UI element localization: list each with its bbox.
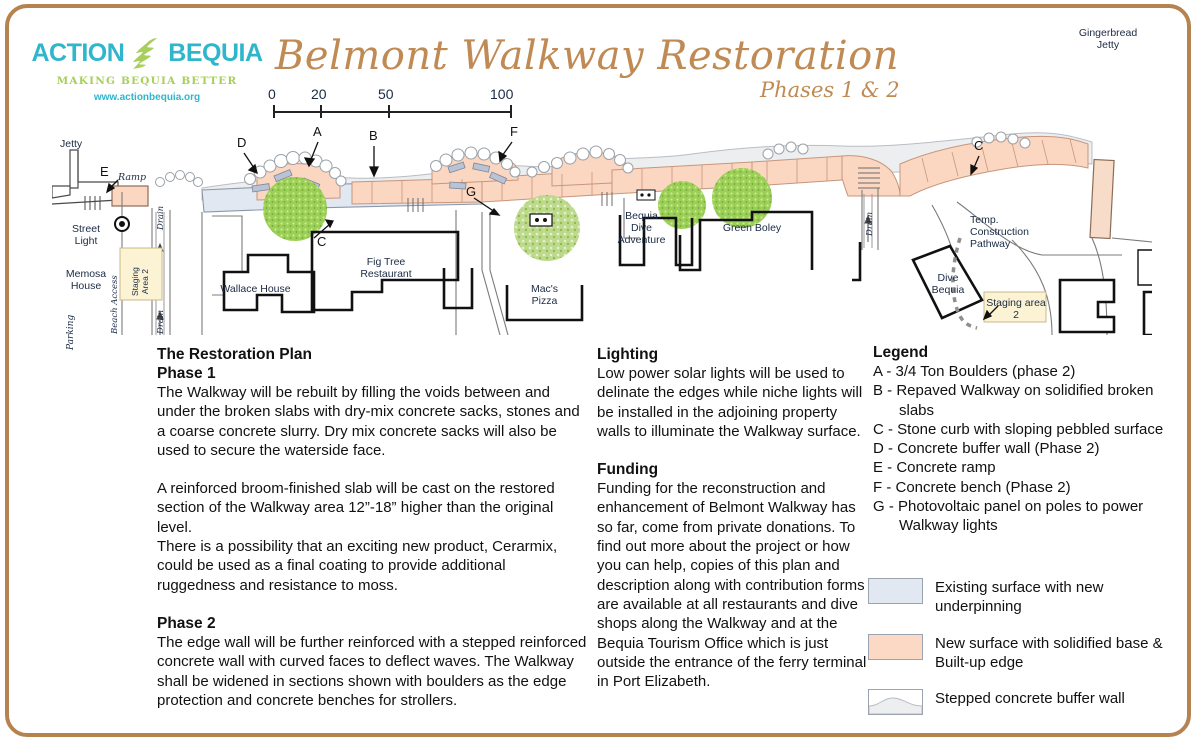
jetty-left-base: [52, 186, 70, 198]
scale-tick-0: [273, 105, 275, 118]
legend-item-d: D - Concrete buffer wall (Phase 2): [873, 439, 1173, 458]
swatch-buffer-wall: [868, 689, 923, 715]
site-plan-map: Jetty StreetLight MemosaHouse Ramp Stagi…: [52, 120, 1152, 335]
photovoltaic-panel-symbol: [530, 214, 552, 226]
spacer-2: [157, 595, 587, 614]
bequia-island-icon: [126, 36, 166, 70]
map-label-drain-3: Drain: [865, 212, 875, 236]
spacer-3: [597, 441, 869, 460]
jetty-left-structure: [70, 150, 78, 188]
map-label-dive-bequia: DiveBequia: [914, 272, 982, 296]
legend-swatch-row-new: New surface with solidified base & Built…: [868, 634, 1178, 673]
map-key-letter-D: D: [237, 135, 246, 150]
map-key-letter-E: E: [100, 164, 109, 179]
concrete-ramp-E: [112, 186, 148, 206]
heading-phase-1: Phase 1: [157, 364, 587, 383]
photovoltaic-panel-symbol-2: [637, 190, 655, 200]
map-key-letter-B: B: [369, 128, 378, 143]
map-label-gingerbread-jetty: GingerbreadJetty: [1066, 27, 1150, 51]
page-title: Belmont Walkway Restoration: [275, 33, 875, 79]
map-label-staging-area-left: StagingArea 2: [131, 267, 150, 296]
logo-word-bequia: BEQUIA: [168, 39, 262, 68]
map-key-letter-C: C: [317, 234, 326, 249]
legend-item-a: A - 3/4 Ton Boulders (phase 2): [873, 362, 1173, 381]
building-green-boley-2: [852, 242, 860, 280]
map-label-drain-2: Drain: [156, 310, 166, 334]
logo-website-url[interactable]: www.actionbequia.org: [47, 92, 247, 103]
legend-item-g: G - Photovoltaic panel on poles to power…: [873, 497, 1173, 536]
paragraph-phase1-b: A reinforced broom-finished slab will be…: [157, 479, 587, 537]
tree-canopy-2: [514, 195, 580, 261]
map-key-letter-F: F: [510, 124, 518, 139]
logo-tagline: MAKING BEQUIA BETTER: [47, 75, 247, 87]
legend-swatches: Existing surface with new underpinning N…: [868, 578, 1178, 732]
scale-tick-label-0: 0: [268, 86, 276, 102]
paragraph-phase1-c: There is a possibility that an exciting …: [157, 537, 587, 595]
map-label-ramp: Ramp: [118, 172, 146, 184]
lighting-funding-column: Lighting Low power solar lights will be …: [597, 345, 869, 691]
page-subtitle: Phases 1 & 2: [760, 78, 900, 102]
legend-item-e: E - Concrete ramp: [873, 458, 1173, 477]
map-label-temp-construction-pathway: Temp.ConstructionPathway: [970, 214, 1048, 250]
steps-left: [85, 196, 100, 210]
swatch-existing-surface: [868, 578, 923, 604]
poster-page: ACTION BEQUIA MAKING BEQUIA BETTER www.a…: [0, 0, 1197, 742]
map-label-beach-access: Beach Access: [110, 275, 120, 334]
heading-legend: Legend: [873, 343, 1173, 362]
scale-tick-20: [320, 105, 322, 118]
legend-swatch-row-buffer: Stepped concrete buffer wall: [868, 689, 1178, 715]
legend-item-f: F - Concrete bench (Phase 2): [873, 478, 1173, 497]
legend-item-b: B - Repaved Walkway on solidified broken…: [873, 381, 1173, 420]
map-key-letter-A: A: [313, 124, 322, 139]
scale-bar: 0 20 50 100: [268, 86, 528, 120]
paragraph-lighting: Low power solar lights will be used to d…: [597, 364, 869, 441]
scale-tick-100: [510, 105, 512, 118]
swatch-label-buffer: Stepped concrete buffer wall: [935, 689, 1125, 708]
heading-funding: Funding: [597, 460, 869, 479]
map-key-letter-G: G: [466, 184, 476, 199]
map-label-staging-area-right: Staging area2: [986, 297, 1046, 321]
map-label-memosa-house: MemosaHouse: [54, 268, 118, 292]
buffer-wall-swatch-icon: [869, 690, 922, 714]
heading-lighting: Lighting: [597, 345, 869, 364]
scale-tick-label-50: 50: [378, 86, 394, 102]
restoration-plan-column: The Restoration Plan Phase 1 The Walkway…: [157, 345, 587, 710]
map-label-jetty-left: Jetty: [60, 138, 82, 150]
building-far-right-2: [1144, 292, 1152, 335]
legend-column: Legend A - 3/4 Ton Boulders (phase 2) B …: [873, 343, 1173, 536]
legend-item-c: C - Stone curb with sloping pebbled surf…: [873, 420, 1173, 439]
spacer: [157, 460, 587, 479]
heading-phase-2: Phase 2: [157, 614, 587, 633]
street-light-symbol: [115, 217, 129, 231]
scale-bar-line: [273, 111, 511, 113]
building-far-right-1: [1138, 250, 1152, 285]
scale-tick-50: [388, 105, 390, 118]
map-label-bequia-dive-adventure: BequiaDiveAdventure: [604, 210, 679, 246]
map-label-green-boley: Green Boley: [697, 222, 807, 234]
map-label-drain-1: Drain: [156, 206, 166, 230]
logo-word-action: ACTION: [31, 39, 124, 68]
heading-restoration-plan: The Restoration Plan: [157, 345, 587, 364]
swatch-label-new: New surface with solidified base & Built…: [935, 634, 1178, 673]
map-label-macs-pizza: Mac'sPizza: [512, 283, 577, 307]
paragraph-funding: Funding for the reconstruction and enhan…: [597, 479, 869, 691]
scale-tick-label-100: 100: [490, 86, 513, 102]
map-key-letter-C2: C: [974, 138, 983, 153]
gingerbread-jetty-structure: [1090, 160, 1114, 239]
paragraph-phase2: The edge wall will be further reinforced…: [157, 633, 587, 710]
scale-tick-label-20: 20: [311, 86, 327, 102]
paragraph-phase1-a: The Walkway will be rebuilt by filling t…: [157, 383, 587, 460]
map-label-fig-tree-restaurant: Fig TreeRestaurant: [340, 256, 432, 280]
action-bequia-logo: ACTION BEQUIA MAKING BEQUIA BETTER www.a…: [47, 36, 247, 103]
building-green-boley: [680, 212, 812, 270]
swatch-label-existing: Existing surface with new underpinning: [935, 578, 1178, 617]
swatch-new-surface: [868, 634, 923, 660]
map-label-street-light: StreetLight: [58, 223, 114, 247]
map-label-parking: Parking: [66, 315, 76, 350]
legend-swatch-row-existing: Existing surface with new underpinning: [868, 578, 1178, 617]
map-label-wallace-house: Wallace House: [213, 283, 298, 295]
